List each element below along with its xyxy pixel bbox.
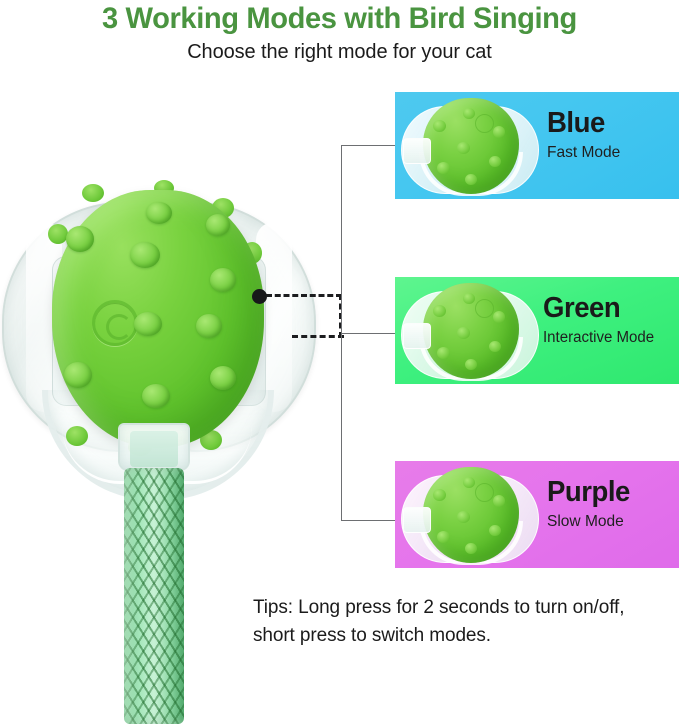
mode-bracket-connector xyxy=(341,145,397,521)
mode-label-group-green: Green Interactive Mode xyxy=(543,291,675,349)
ball-bump xyxy=(130,242,160,268)
mode-name-purple: Purple xyxy=(547,475,672,509)
thumb-connector xyxy=(403,138,431,164)
ball-bump xyxy=(64,362,92,388)
thumb-bump xyxy=(489,156,501,167)
thumb-bump xyxy=(457,511,470,523)
thumb-bump xyxy=(489,341,501,352)
ball-bump xyxy=(206,214,230,236)
ball-bump xyxy=(66,226,94,252)
thumb-bump xyxy=(437,162,450,174)
tips-line-1: Tips: Long press for 2 seconds to turn o… xyxy=(253,594,673,622)
thumb-green-ball xyxy=(423,98,519,194)
ball-bump xyxy=(196,314,222,338)
thumb-brand-logo xyxy=(475,299,494,318)
product-connector-inner xyxy=(130,431,178,467)
mode-panel-purple: Purple Slow Mode xyxy=(395,461,679,568)
bracket-branch-green xyxy=(341,333,397,334)
mode-thumbnail-green xyxy=(405,279,535,383)
thumb-bump xyxy=(493,495,505,507)
ball-nub xyxy=(66,426,88,446)
thumb-bump xyxy=(463,108,475,119)
bracket-branch-blue xyxy=(341,145,397,146)
page-subtitle: Choose the right mode for your cat xyxy=(0,41,679,64)
mode-thumbnail-blue xyxy=(405,94,535,198)
mode-panel-green: Green Interactive Mode xyxy=(395,277,679,384)
infographic-canvas: 3 Working Modes with Bird Singing Choose… xyxy=(0,0,679,694)
thumb-bump xyxy=(433,305,446,317)
thumb-bump xyxy=(465,543,477,554)
ball-bump xyxy=(146,202,172,224)
thumb-green-ball xyxy=(423,283,519,379)
tips-line-2: short press to switch modes. xyxy=(253,622,673,650)
mode-description-blue: Fast Mode xyxy=(547,142,675,164)
thumb-brand-logo xyxy=(475,483,494,502)
product-braided-wand xyxy=(124,468,184,724)
thumb-bump xyxy=(437,347,450,359)
callout-dashed-segment xyxy=(266,294,342,297)
mode-name-blue: Blue xyxy=(547,106,672,140)
thumb-bump xyxy=(457,142,470,154)
product-green-ball xyxy=(52,190,264,448)
callout-point-marker xyxy=(252,289,267,304)
bracket-branch-purple xyxy=(341,520,397,521)
thumb-connector xyxy=(403,323,431,349)
ball-bump xyxy=(210,268,236,292)
ball-bump xyxy=(210,366,236,390)
mode-label-group-blue: Blue Fast Mode xyxy=(547,106,679,164)
thumb-bump xyxy=(489,525,501,536)
callout-dashed-segment xyxy=(292,335,344,338)
ball-bump xyxy=(134,312,162,336)
thumb-bump xyxy=(465,174,477,185)
mode-description-green: Interactive Mode xyxy=(543,327,671,349)
thumb-brand-logo xyxy=(475,114,494,133)
thumb-bump xyxy=(493,311,505,323)
mode-label-group-purple: Purple Slow Mode xyxy=(547,475,679,533)
thumb-bump xyxy=(463,293,475,304)
thumb-connector xyxy=(403,507,431,533)
thumb-green-ball xyxy=(423,467,519,563)
thumb-bump xyxy=(493,126,505,138)
mode-panel-blue: Blue Fast Mode xyxy=(395,92,679,199)
mode-name-green: Green xyxy=(543,291,668,325)
page-title: 3 Working Modes with Bird Singing xyxy=(10,2,669,36)
ball-bump xyxy=(142,384,170,408)
mode-description-purple: Slow Mode xyxy=(547,511,675,533)
mode-thumbnail-purple xyxy=(405,463,535,567)
thumb-bump xyxy=(463,477,475,488)
ball-nub xyxy=(82,184,104,202)
brand-logo-emboss xyxy=(92,300,138,346)
ball-nub xyxy=(48,224,68,244)
tips-text: Tips: Long press for 2 seconds to turn o… xyxy=(253,594,673,650)
thumb-bump xyxy=(437,531,450,543)
thumb-bump xyxy=(457,327,470,339)
thumb-bump xyxy=(433,120,446,132)
thumb-bump xyxy=(465,359,477,370)
thumb-bump xyxy=(433,489,446,501)
